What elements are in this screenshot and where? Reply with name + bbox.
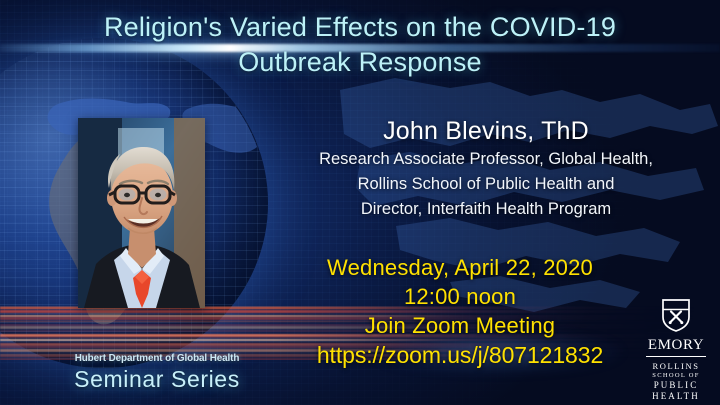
logo-line-school-of: SCHOOL OF — [640, 371, 712, 380]
logo-divider — [646, 356, 706, 357]
speaker-name: John Blevins, ThD — [252, 115, 720, 147]
zoom-meeting-link[interactable]: https://zoom.us/j/807121832 — [250, 340, 670, 370]
seminar-announcement-slide: Religion's Varied Effects on the COVID-1… — [0, 0, 720, 405]
emory-wordmark: EMORY — [640, 337, 712, 353]
join-zoom-meeting-label: Join Zoom Meeting — [250, 311, 670, 340]
speaker-role-line-2: Rollins School of Public Health and — [252, 172, 720, 197]
event-date: Wednesday, April 22, 2020 — [250, 253, 670, 282]
emory-rollins-logo: EMORY ROLLINS SCHOOL OF PUBLIC HEALTH — [640, 298, 712, 402]
emory-shield-crest-icon — [661, 298, 691, 332]
logo-line-health: HEALTH — [640, 391, 712, 402]
speaker-role-line-1: Research Associate Professor, Global Hea… — [252, 147, 720, 172]
title-line-2: Outbreak Response — [0, 45, 720, 80]
speaker-role-line-3: Director, Interfaith Health Program — [252, 197, 720, 222]
logo-line-rollins: ROLLINS — [640, 361, 712, 371]
title-line-1: Religion's Varied Effects on the COVID-1… — [0, 10, 720, 45]
speaker-portrait — [78, 118, 205, 308]
seminar-series-branding: Hubert Department of Global Health Semin… — [32, 352, 282, 394]
department-name: Hubert Department of Global Health — [40, 352, 275, 365]
logo-line-public: PUBLIC — [640, 380, 712, 391]
page-title: Religion's Varied Effects on the COVID-1… — [0, 10, 720, 80]
speaker-info: John Blevins, ThD Research Associate Pro… — [252, 115, 720, 222]
series-name: Seminar Series — [32, 365, 282, 394]
event-time: 12:00 noon — [250, 282, 670, 311]
event-details: Wednesday, April 22, 2020 12:00 noon Joi… — [250, 253, 670, 370]
